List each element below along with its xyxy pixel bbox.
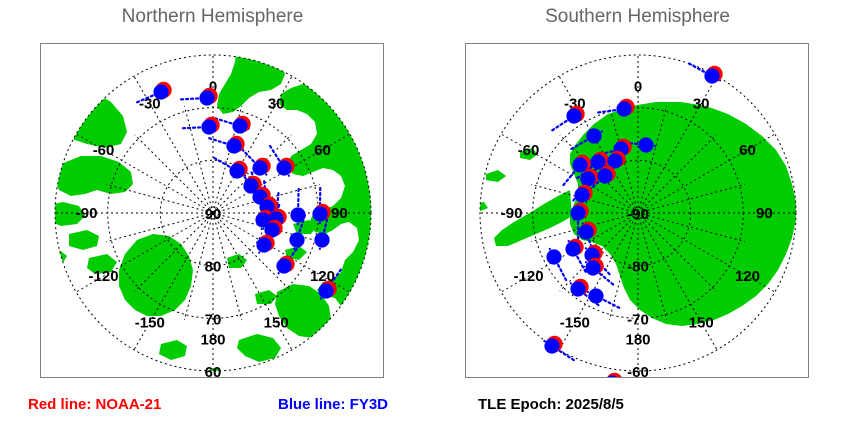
latitude-label-80: 80 [205,259,222,276]
longitude-label-120: 120 [735,268,760,285]
marker-fy3d [597,168,612,183]
longitude-label-30: 30 [693,96,710,113]
marker-fy3d [565,241,580,256]
longitude-label--150: -150 [560,314,590,331]
marker-fy3d [704,68,719,83]
marker-fy3d [638,137,653,152]
marker-fy3d [252,160,267,175]
marker-fy3d [585,260,600,275]
marker-fy3d [574,187,589,202]
marker-fy3d [201,119,216,134]
marker-fy3d [586,128,601,143]
polar-plot-south: 0306090120150180-150-120-90-60-30-90-80-… [466,44,808,377]
marker-fy3d [232,118,247,133]
polar-plot-north: 0306090120150180-150-120-90-60-309080706… [41,44,383,377]
marker-fy3d [199,90,214,105]
longitude-label-150: 150 [689,314,714,331]
marker-fy3d [229,163,244,178]
longitude-label-150: 150 [264,314,289,331]
marker-fy3d [318,283,333,298]
latitude-label-90: 90 [205,206,222,223]
longitude-label-180: 180 [200,331,225,348]
marker-fy3d [566,108,581,123]
legend-fy3d: Blue line: FY3D [278,396,388,413]
longitude-label-90: 90 [756,205,773,222]
longitude-label--150: -150 [135,314,165,331]
marker-fy3d [289,232,304,247]
latitude-label--90: -90 [627,206,649,223]
tle-epoch-label: TLE Epoch: 2025/8/5 [478,396,624,413]
marker-fy3d [290,207,305,222]
latitude-label-60: 60 [205,364,222,377]
longitude-label-60: 60 [739,142,756,159]
marker-fy3d [616,101,631,116]
longitude-label-60: 60 [314,142,331,159]
longitude-label--120: -120 [89,268,119,285]
longitude-label-0: 0 [634,79,642,96]
longitude-label-180: 180 [625,331,650,348]
longitude-label-90: 90 [331,205,348,222]
latitude-label-70: 70 [205,311,222,328]
marker-fy3d [314,232,329,247]
longitude-label--60: -60 [93,142,115,159]
marker-fy3d [153,84,168,99]
plot-frame-north: 0306090120150180-150-120-90-60-309080706… [40,43,384,378]
longitude-label--90: -90 [76,205,98,222]
marker-fy3d [226,138,241,153]
latitude-label--80: -80 [627,259,649,276]
longitude-label--120: -120 [514,268,544,285]
marker-fy3d [256,237,271,252]
legend-noaa21: Red line: NOAA-21 [28,396,161,413]
longitude-label--60: -60 [518,142,540,159]
marker-fy3d [588,288,603,303]
panel-northern-hemisphere: Northern Hemisphere 0306090120150180-150… [0,0,425,425]
marker-fy3d [312,206,327,221]
marker-fy3d [276,258,291,273]
panel-southern-hemisphere: Southern Hemisphere 0306090120150180-150… [425,0,850,425]
marker-fy3d [544,338,559,353]
latitude-label--60: -60 [627,364,649,377]
marker-fy3d [570,281,585,296]
latitude-label--70: -70 [627,311,649,328]
plot-frame-south: 0306090120150180-150-120-90-60-30-90-80-… [465,43,809,378]
panel-title-north: Northern Hemisphere [0,6,425,28]
panel-title-south: Southern Hemisphere [425,6,850,28]
marker-fy3d [570,205,585,220]
marker-fy3d [580,171,595,186]
marker-fy3d [572,157,587,172]
marker-fy3d [578,224,593,239]
marker-fy3d [276,160,291,175]
marker-fy3d [546,249,561,264]
longitude-label--90: -90 [501,205,523,222]
longitude-label-30: 30 [268,96,285,113]
